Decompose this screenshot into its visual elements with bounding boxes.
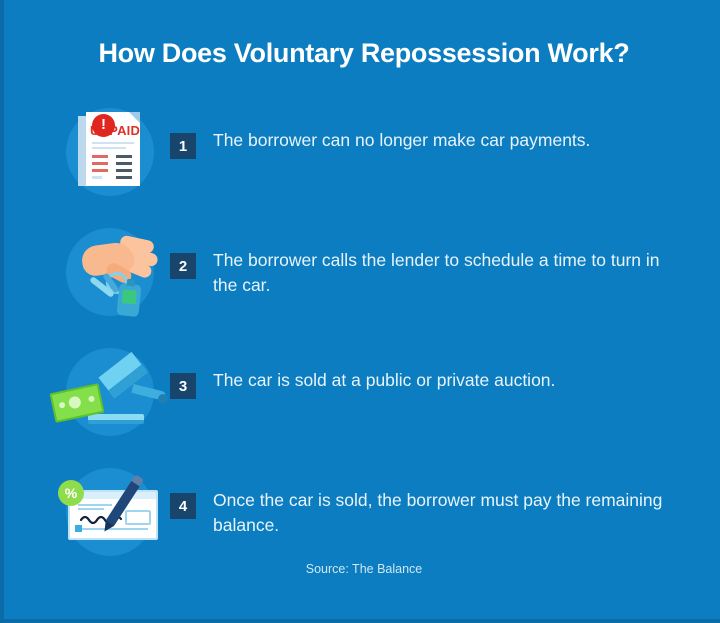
step-description: The car is sold at a public or private a… [213,368,555,393]
step-4-icon-slot: % [40,456,170,576]
infographic-canvas: How Does Voluntary Repossession Work? UN… [0,0,720,623]
step-number-badge: 2 [170,253,196,279]
document-rule [92,142,134,144]
document-dash [92,176,102,179]
step-number-badge: 1 [170,133,196,159]
step-1-icon-slot: UNPAID ! [40,96,170,216]
list-item: UNPAID ! 1 The borrow [4,96,720,216]
step-number-badge: 4 [170,493,196,519]
alert-exclamation-icon: ! [92,114,115,137]
money-bill-dot [88,395,95,402]
step-description: The borrower calls the lender to schedul… [213,248,683,298]
document-dash [92,169,108,172]
document-dash [116,155,132,158]
step-2-icon-slot [40,216,170,336]
key-fob-screen [122,289,137,304]
step-3-icon-slot [40,336,170,456]
gavel-striking-block-shadow [88,420,144,424]
list-item: 3 The car is sold at a public or private… [4,336,720,456]
unpaid-document-icon: UNPAID ! [84,112,140,186]
money-bill-center [68,395,82,409]
page-title: How Does Voluntary Repossession Work? [4,38,720,69]
steps-list: UNPAID ! 1 The borrow [4,96,720,576]
source-attribution: Source: The Balance [4,562,720,576]
list-item: % 4 Once the car is sold, the borrower m… [4,456,720,576]
hand-holding-car-keys-icon [70,228,166,324]
check-marker [75,525,82,532]
step-description: The borrower can no longer make car paym… [213,128,590,153]
document-dash [116,176,132,179]
money-bill-dot [59,402,66,409]
key-fob [116,283,141,317]
step-description: Once the car is sold, the borrower must … [213,488,683,538]
document-dash [92,155,108,158]
document-rule [92,147,126,149]
list-item: 2 The borrower calls the lender to sched… [4,216,720,336]
percent-badge-icon: % [58,480,84,506]
check-line [78,504,112,506]
document-dash [116,169,132,172]
step-number-badge: 3 [170,373,196,399]
key-fob-tip [126,279,135,287]
document-dash [116,162,132,165]
document-dash [92,162,108,165]
check-amount-box [125,510,151,525]
gavel-handle-knob [158,394,168,404]
document-folded-corner [129,112,140,123]
check-line [78,508,104,510]
